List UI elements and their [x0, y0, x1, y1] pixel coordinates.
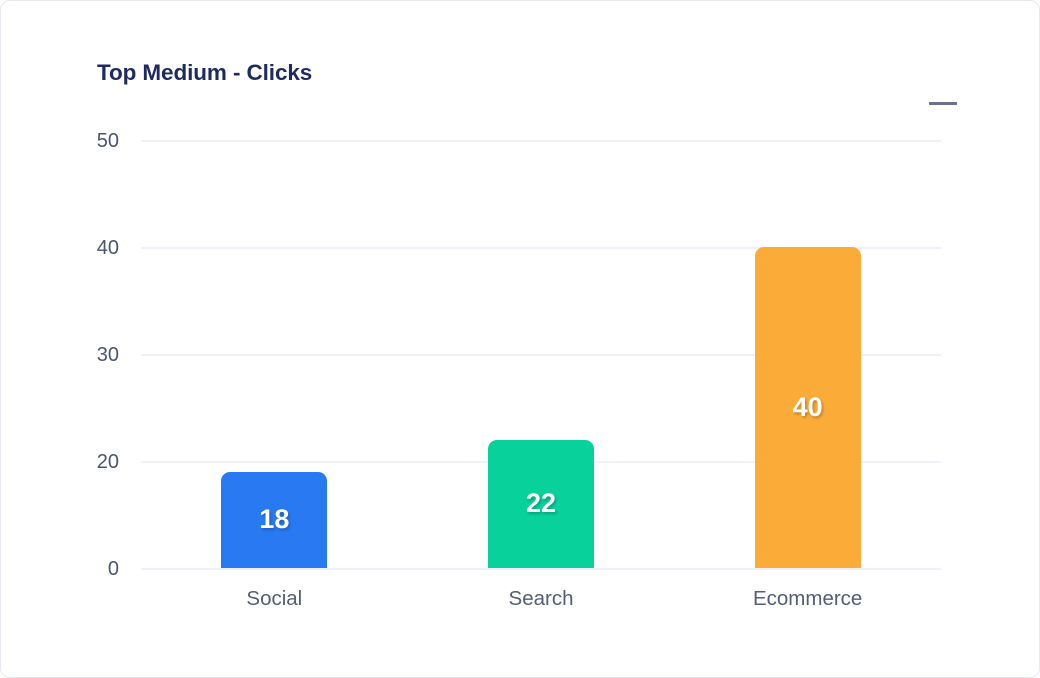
x-axis-label-social: Social [246, 587, 302, 612]
bar-value-label: 22 [526, 490, 556, 517]
gridline: 0 [141, 568, 941, 570]
chart-card: Top Medium - Clicks 504030200182240 Soci… [0, 0, 1040, 678]
hamburger-bar-bottom [929, 102, 957, 105]
page-title: Top Medium - Clicks [97, 59, 312, 87]
bar-value-label: 40 [793, 394, 823, 421]
bar-series: 182240 [141, 140, 941, 568]
plot-area: 504030200182240 [141, 140, 941, 568]
x-axis-label-ecommerce: Ecommerce [753, 587, 862, 612]
y-axis-tick-label: 20 [97, 452, 119, 472]
x-axis-label-search: Search [509, 587, 574, 612]
chart-header: Top Medium - Clicks [97, 59, 959, 105]
bar-search[interactable]: 22 [488, 440, 594, 568]
bar-ecommerce[interactable]: 40 [755, 247, 861, 568]
y-axis-tick-label: 40 [97, 238, 119, 258]
y-axis-tick-label: 50 [97, 131, 119, 151]
bar-value-label: 18 [259, 506, 289, 533]
y-axis-tick-label: 0 [108, 559, 119, 579]
hamburger-menu-icon[interactable] [929, 59, 959, 87]
x-axis-labels: SocialSearchEcommerce [141, 587, 941, 617]
bar-social[interactable]: 18 [221, 472, 327, 568]
y-axis-tick-label: 30 [97, 345, 119, 365]
